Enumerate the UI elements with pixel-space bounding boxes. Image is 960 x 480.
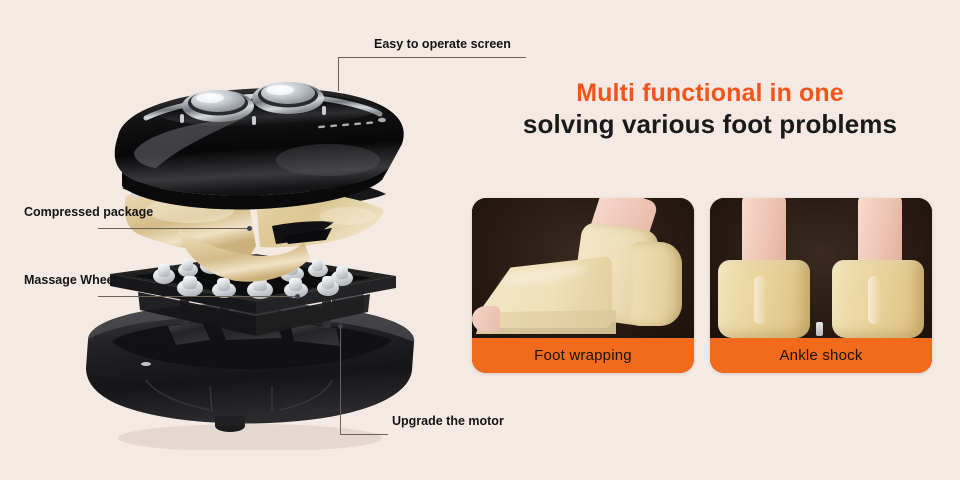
leader-line-motor-vertical [340,326,341,434]
ankle-shock-fold-right [868,276,880,324]
callout-label-motor: Upgrade the motor [392,414,504,428]
leader-line-motor-horizontal [340,434,388,435]
leader-line-wheel [98,296,298,297]
headline-block: Multi functional in one solving various … [470,78,950,140]
ankle-shock-fold-left [754,276,766,324]
ankle-shock-caption: Ankle shock [779,347,862,364]
exploded-product-illustration [60,40,440,450]
foot-wrapping-toe [472,306,500,332]
product-feature-banner: Easy to operate screen Compressed packag… [0,0,960,480]
leader-line-screen-horizontal [338,57,526,58]
leader-dot-airbag [247,226,252,231]
foot-wrapping-caption: Foot wrapping [534,347,632,364]
product-svg [60,40,440,450]
leader-line-airbag [98,228,250,229]
black-top-shell [115,82,404,209]
foot-wrapping-caption-bar: Foot wrapping [472,338,694,373]
headline-line-2: solving various foot problems [470,108,950,140]
ankle-shock-caption-bar: Ankle shock [710,338,932,373]
control-dial-left [182,90,254,122]
control-dial-right [252,82,324,114]
leader-dot-wheel [295,294,300,299]
ankle-shock-center-chip [816,322,823,336]
feature-card-foot-wrapping[interactable]: Foot wrapping [472,198,694,373]
callout-label-screen: Easy to operate screen [374,37,511,51]
headline-line-1: Multi functional in one [470,78,950,108]
foot-wrapping-photo [472,198,694,338]
callout-label-wheel: Massage Wheel [24,273,117,287]
foot-wrapping-heel-wrap [630,242,682,326]
feature-card-ankle-shock[interactable]: Ankle shock [710,198,932,373]
callout-label-airbag: Compressed package [24,205,153,219]
leader-dot-motor [338,324,343,329]
ankle-shock-photo [710,198,932,338]
leader-line-screen-vertical [338,57,339,91]
